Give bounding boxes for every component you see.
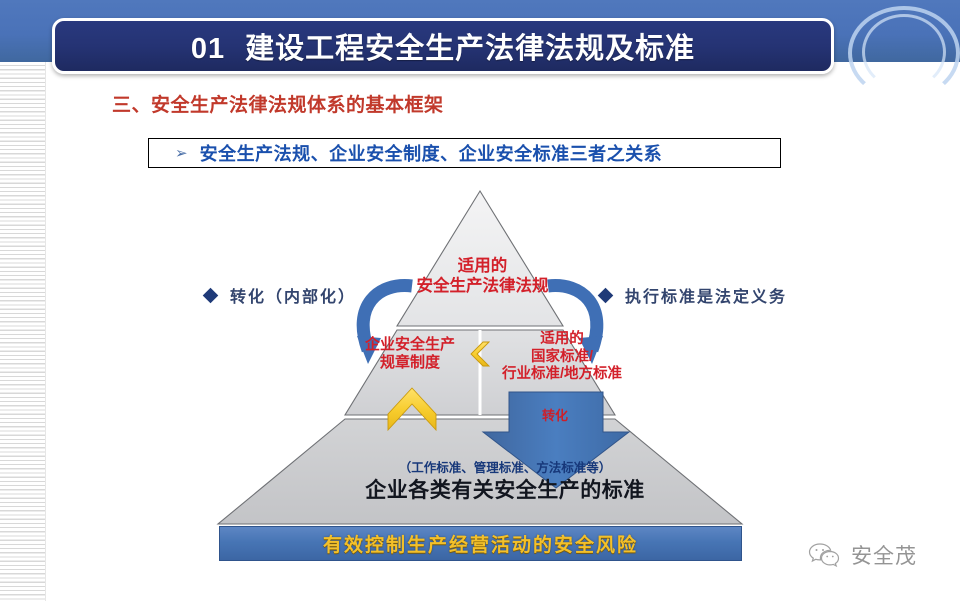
pyramid-mid-right-label: 适用的 国家标准/ 行业标准/地方标准 [487,331,637,384]
pyramid-apex-label: 适用的 安全生产法律法规 [385,256,580,296]
annotation-left: 转化（内部化） [205,283,356,307]
left-stripe-edge [45,62,46,601]
pyramid-mid-left-line1: 企业安全生产 [350,336,470,354]
topic-box: ➢ 安全生产法规、企业安全制度、企业安全标准三者之关系 [148,138,781,168]
title-number: 01 [191,33,225,65]
pyramid-apex-line1: 适用的 [385,256,580,276]
pyramid-mid-left-line2: 规章制度 [350,354,470,372]
blue-arrow-label: 转化 [525,408,585,424]
diamond-bullet-icon [598,287,614,303]
pyramid-mid-right-line3: 行业标准/地方标准 [487,366,637,384]
title-label: 建设工程安全生产法律法规及标准 [245,33,695,65]
annotation-left-label: 转化（内部化） [230,283,356,307]
pyramid-base-sublabel: （工作标准、管理标准、方法标准等） [355,461,655,476]
watermark-label: 安全茂 [851,540,917,570]
slide-title-plate: 01建设工程安全生产法律法规及标准 [52,18,834,74]
arc-decoration-inner-icon [862,14,946,90]
page-title: 01建设工程安全生产法律法规及标准 [191,25,695,67]
pyramid-mid-left-label: 企业安全生产 规章制度 [350,336,470,373]
wechat-icon [808,542,842,568]
diamond-bullet-icon [203,287,219,303]
pyramid-mid-right-line1: 适用的 [487,331,637,349]
footer-result-label: 有效控制生产经营活动的安全风险 [323,530,638,557]
section-heading: 三、安全生产法律法规体系的基本框架 [112,90,444,117]
annotation-right-label: 执行标准是法定义务 [625,283,787,307]
slide-canvas: 01建设工程安全生产法律法规及标准 三、安全生产法律法规体系的基本框架 ➢ 安全… [0,0,960,601]
pyramid-mid-right-line2: 国家标准/ [487,349,637,367]
footer-result-bar: 有效控制生产经营活动的安全风险 [219,526,742,561]
watermark: 安全茂 [808,540,917,570]
left-stripe-decoration [0,62,46,601]
chevron-right-icon: ➢ [175,146,188,161]
yellow-up-chevron-icon [388,388,436,430]
pyramid-base-label: 企业各类有关安全生产的标准 [300,478,710,504]
annotation-right: 执行标准是法定义务 [600,283,787,307]
topic-label: 安全生产法规、企业安全制度、企业安全标准三者之关系 [200,140,663,166]
pyramid-apex-line2: 安全生产法律法规 [385,276,580,296]
